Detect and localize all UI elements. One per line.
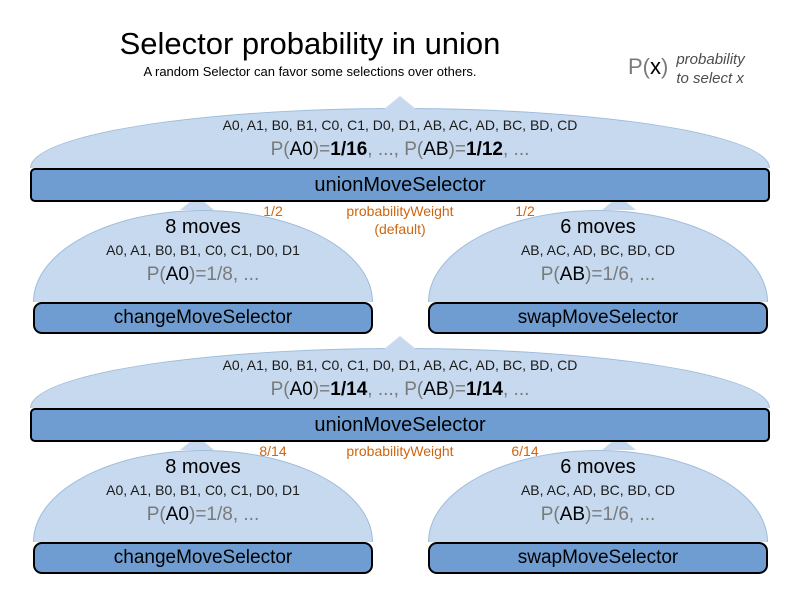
change-move-selector-bar-proportional[interactable]: changeMoveSelector xyxy=(33,542,373,574)
prob-separator: , ..., xyxy=(367,139,404,160)
prob-variable: A0 xyxy=(166,504,189,525)
child-probability-change-default: P(A0)=1/8, ... xyxy=(33,264,373,286)
output-arrow-diagram-2 xyxy=(383,336,417,350)
prob-value: 1/14 xyxy=(330,379,367,400)
weight-name-label: probabilityWeight xyxy=(315,443,485,461)
prob-equals-2: )= xyxy=(449,139,466,160)
union-selector-label: unionMoveSelector xyxy=(314,414,485,437)
prob-suffix: )=1/8, ... xyxy=(189,504,259,525)
union-probability-proportional: P(A0)=1/14, ..., P(AB)=1/14, ... xyxy=(30,379,770,401)
prob-tail: , ... xyxy=(503,139,529,160)
weight-left-default: 1/2 xyxy=(248,203,298,219)
prob-prefix: P( xyxy=(271,139,290,160)
legend-symbol: P(x) xyxy=(628,50,668,78)
union-selector-label: unionMoveSelector xyxy=(314,174,485,197)
prob-prefix-2: P( xyxy=(404,139,423,160)
union-selector-bar-proportional[interactable]: unionMoveSelector xyxy=(30,408,770,442)
change-move-selector-bar-default[interactable]: changeMoveSelector xyxy=(33,302,373,334)
legend: P(x) probability to select x xyxy=(628,50,745,88)
weight-name-note: (default) xyxy=(315,221,485,239)
prob-prefix: P( xyxy=(147,264,166,285)
weight-name-default: probabilityWeight (default) xyxy=(315,203,485,238)
weight-right-proportional: 6/14 xyxy=(500,443,550,459)
prob-suffix: )=1/6, ... xyxy=(585,504,655,525)
diagram-canvas: Selector probability in union A random S… xyxy=(0,0,800,600)
child-moves-list-change-default: A0, A1, B0, B1, C0, C1, D0, D1 xyxy=(33,242,373,258)
weight-right-default: 1/2 xyxy=(500,203,550,219)
swap-move-selector-bar-default[interactable]: swapMoveSelector xyxy=(428,302,768,334)
legend-description: probability to select x xyxy=(676,50,744,88)
prob-value-2: 1/12 xyxy=(466,139,503,160)
weight-left-proportional: 8/14 xyxy=(248,443,298,459)
prob-equals: )= xyxy=(313,379,330,400)
page-subtitle: A random Selector can favor some selecti… xyxy=(0,64,620,79)
prob-suffix: )=1/8, ... xyxy=(189,264,259,285)
prob-tail: , ... xyxy=(503,379,529,400)
child-moves-list-swap-default: AB, AC, AD, BC, BD, CD xyxy=(428,242,768,258)
prob-variable: A0 xyxy=(166,264,189,285)
legend-description-line1: probability xyxy=(676,50,744,69)
prob-prefix: P( xyxy=(541,264,560,285)
legend-symbol-variable: x xyxy=(650,54,661,79)
union-selector-bar-default[interactable]: unionMoveSelector xyxy=(30,168,770,202)
prob-value: 1/16 xyxy=(330,139,367,160)
weight-name-label: probabilityWeight xyxy=(315,203,485,221)
union-moves-list-proportional: A0, A1, B0, B1, C0, C1, D0, D1, AB, AC, … xyxy=(30,357,770,373)
prob-prefix-2: P( xyxy=(404,379,423,400)
union-moves-list-default: A0, A1, B0, B1, C0, C1, D0, D1, AB, AC, … xyxy=(30,117,770,133)
prob-variable: A0 xyxy=(290,379,313,400)
child-probability-swap-default: P(AB)=1/6, ... xyxy=(428,264,768,286)
child-probability-change-proportional: P(A0)=1/8, ... xyxy=(33,504,373,526)
legend-description-line2: to select x xyxy=(676,69,744,88)
prob-equals: )= xyxy=(313,139,330,160)
child-moves-list-swap-proportional: AB, AC, AD, BC, BD, CD xyxy=(428,482,768,498)
swap-move-selector-bar-proportional[interactable]: swapMoveSelector xyxy=(428,542,768,574)
prob-separator: , ..., xyxy=(367,379,404,400)
prob-variable-2: AB xyxy=(423,139,448,160)
prob-suffix: )=1/6, ... xyxy=(585,264,655,285)
change-move-selector-label: changeMoveSelector xyxy=(114,307,293,329)
prob-prefix: P( xyxy=(271,379,290,400)
prob-variable-2: AB xyxy=(423,379,448,400)
swap-move-selector-label: swapMoveSelector xyxy=(518,307,679,329)
prob-variable: AB xyxy=(560,504,585,525)
child-moves-list-change-proportional: A0, A1, B0, B1, C0, C1, D0, D1 xyxy=(33,482,373,498)
prob-prefix: P( xyxy=(541,504,560,525)
prob-variable: AB xyxy=(560,264,585,285)
prob-prefix: P( xyxy=(147,504,166,525)
change-move-selector-label: changeMoveSelector xyxy=(114,547,293,569)
swap-move-selector-label: swapMoveSelector xyxy=(518,547,679,569)
child-probability-swap-proportional: P(AB)=1/6, ... xyxy=(428,504,768,526)
prob-variable: A0 xyxy=(290,139,313,160)
page-title: Selector probability in union xyxy=(0,28,620,61)
union-probability-default: P(A0)=1/16, ..., P(AB)=1/12, ... xyxy=(30,139,770,161)
weight-name-proportional: probabilityWeight xyxy=(315,443,485,461)
output-arrow-diagram-1 xyxy=(383,96,417,110)
prob-equals-2: )= xyxy=(449,379,466,400)
prob-value-2: 1/14 xyxy=(466,379,503,400)
